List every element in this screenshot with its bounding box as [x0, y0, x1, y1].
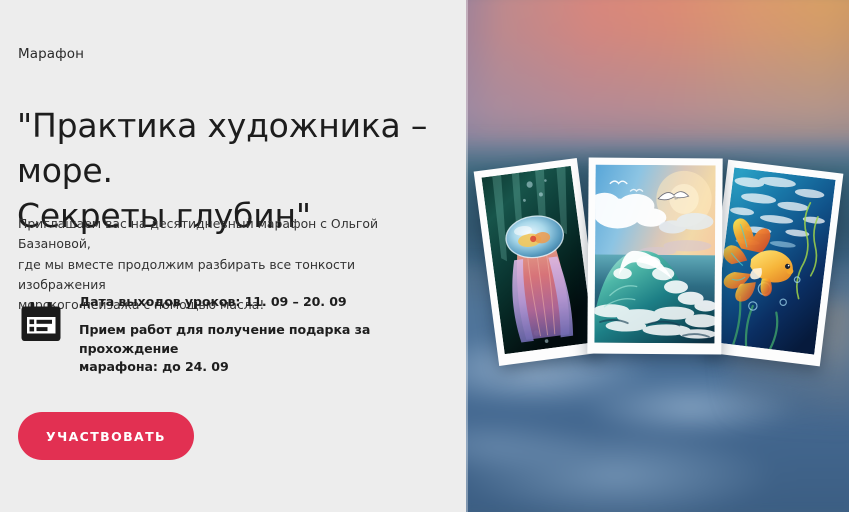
lesson-dates-text: Дата выходов уроков: 11. 09 – 20. 09 [79, 293, 440, 312]
eyebrow-label: Марафон [18, 46, 84, 62]
calendar-icon [20, 302, 62, 342]
betta-fish-artwork [713, 167, 836, 354]
participate-button[interactable]: УЧАСТВОВАТЬ [18, 412, 194, 460]
promo-banner: Марафон "Практика художника – море. Секр… [0, 0, 849, 512]
content-panel: Марафон "Практика художника – море. Секр… [0, 0, 466, 512]
dates-info-lines: Дата выходов уроков: 11. 09 – 20. 09 При… [66, 291, 440, 377]
calendar-icon-wrap [20, 291, 66, 342]
photo-card-betta-fish[interactable] [705, 160, 844, 367]
dates-info-block: Дата выходов уроков: 11. 09 – 20. 09 При… [20, 291, 440, 377]
panel-divider [466, 0, 468, 512]
photo-card-wave[interactable] [587, 158, 722, 355]
jellyfish-artwork [482, 166, 594, 354]
hero-image [466, 0, 849, 512]
submission-deadline-text: Прием работ для получение подарка за про… [79, 321, 440, 377]
ocean-wave-artwork [594, 165, 715, 344]
